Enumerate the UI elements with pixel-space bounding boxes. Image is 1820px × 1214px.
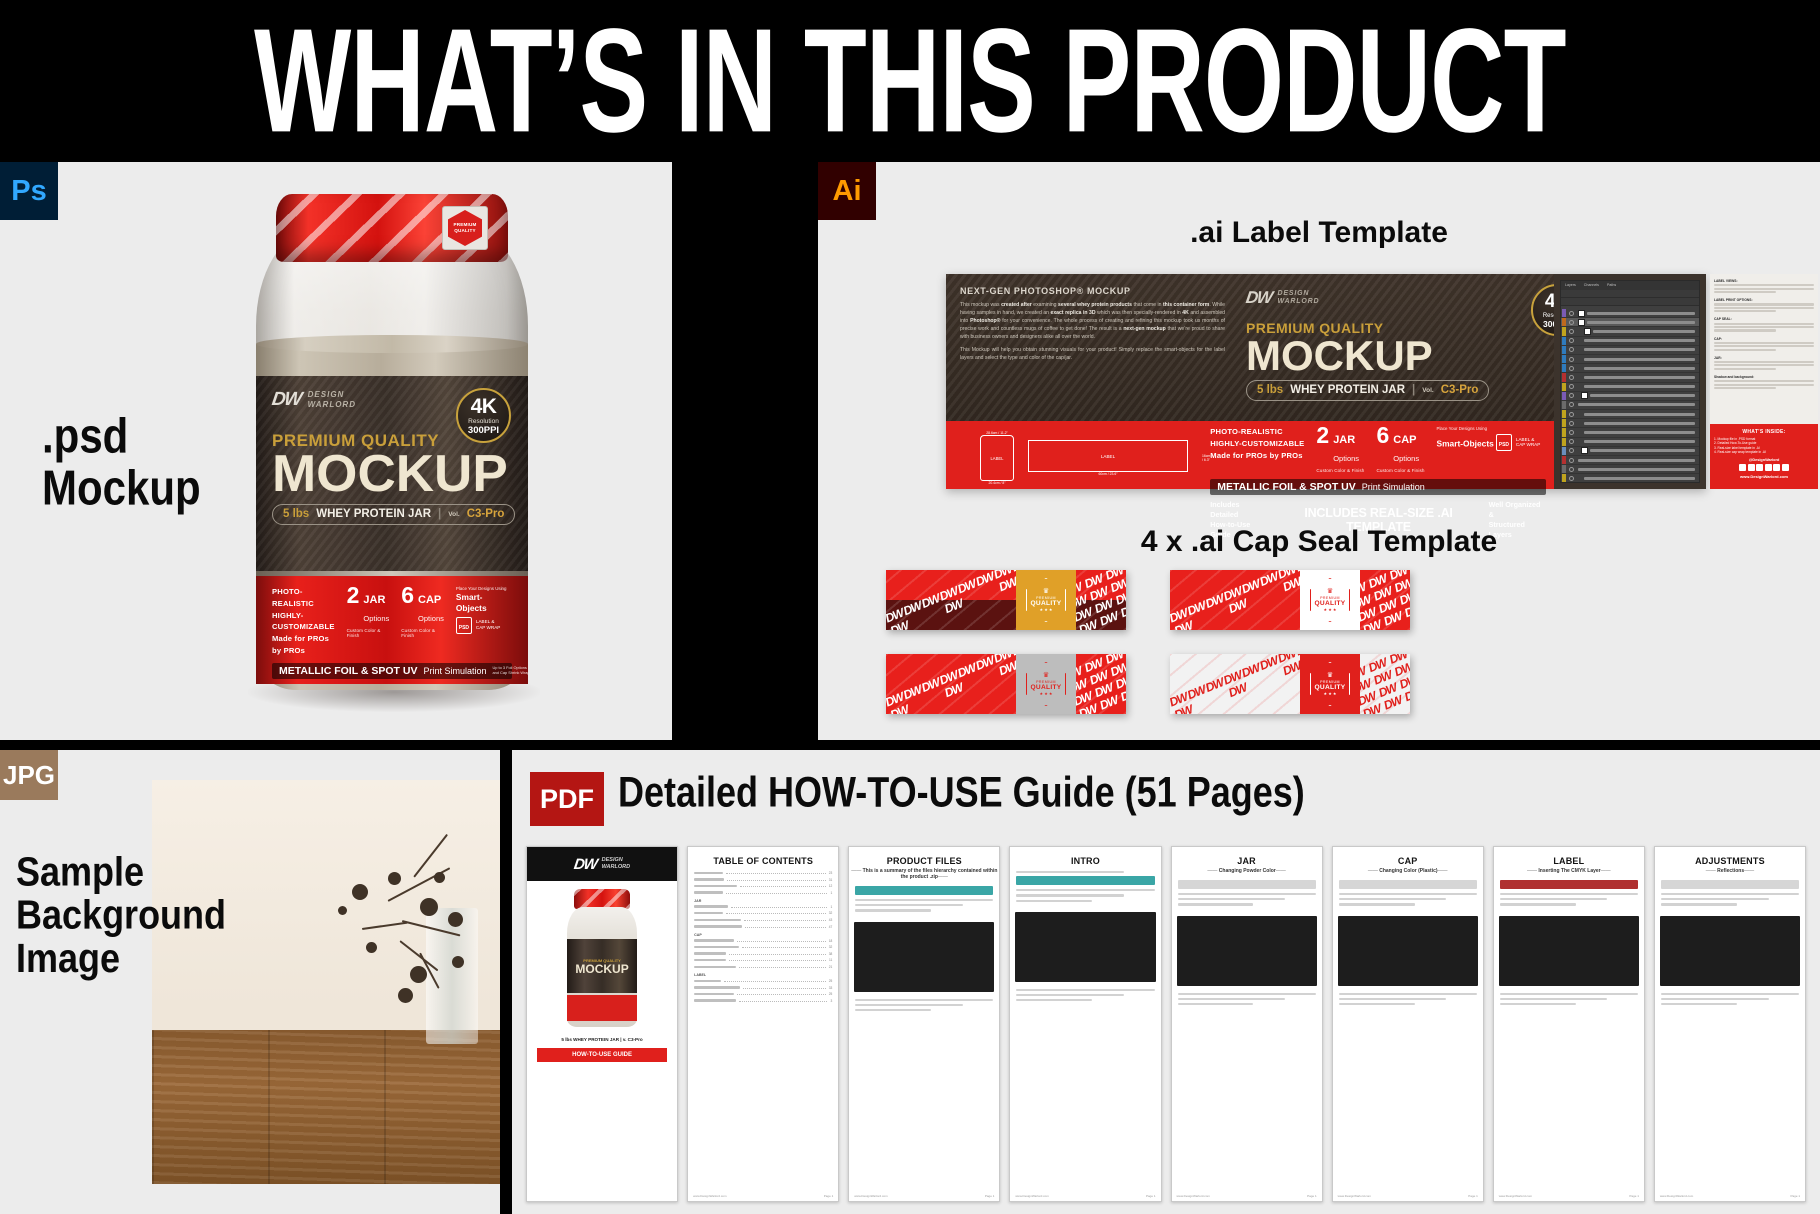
layer-color-swatch: [1562, 474, 1566, 482]
badge-ppi-value: 300PPI: [468, 426, 499, 436]
layer-visibility-icon[interactable]: [1569, 357, 1574, 362]
pdf-page-label[interactable]: LABELInserting The CMYK Layerwww.DesignW…: [1493, 846, 1645, 1202]
jar-options-note: Custom Color & Finish: [347, 628, 390, 638]
layer-row[interactable]: [1561, 392, 1699, 401]
page-header-title: LABEL: [1494, 847, 1644, 868]
ai-smart-title: Smart-Objects: [1437, 438, 1494, 448]
layer-row[interactable]: [1561, 465, 1699, 474]
layer-name: [1584, 477, 1695, 480]
page-callout-bar: [1500, 880, 1638, 889]
layer-row[interactable]: [1561, 318, 1699, 327]
ai-feature-customizable: HIGHLY-CUSTOMIZABLE: [1210, 438, 1304, 450]
ai-product-pill: 5 lbs WHEY PROTEIN JAR | Vol. C3-Pro: [1246, 380, 1489, 401]
jar-options-word: JAR: [363, 594, 385, 606]
layers-panel-opacity[interactable]: [1561, 298, 1699, 306]
ai-body-paragraph-1: This mockup was created after examining …: [960, 301, 1225, 341]
pdf-page-files[interactable]: PRODUCT FILESThis is a summary of the fi…: [848, 846, 1000, 1202]
page-callout-bar: [855, 886, 993, 895]
website-url: www.DesignWarlord.com: [1714, 474, 1814, 479]
ai-info-notes: LABEL VIEWS:LABEL PRINT OPTIONS:CAP SEAL…: [1710, 274, 1818, 424]
toc-row: 32: [694, 911, 832, 915]
layer-row[interactable]: [1561, 447, 1699, 456]
jar-options-block: 2 JAR Options Custom Color & Finish: [347, 586, 390, 638]
layer-name: [1584, 339, 1695, 342]
instagram-icon[interactable]: [1756, 464, 1763, 471]
jpg-caption: Sample Background Image: [16, 850, 226, 979]
info-note-block: JAR:: [1714, 356, 1814, 370]
cap-badge-quality: QUALITY: [454, 228, 476, 234]
cap-options-word: CAP: [418, 594, 441, 606]
psd-caption-line2: Mockup: [42, 462, 201, 514]
ai-artboard-dark-area: NEXT-GEN PHOTOSHOP® MOCKUP This mockup w…: [946, 274, 1554, 489]
page-footer-url: www.DesignWarlord.com: [693, 1194, 726, 1198]
layer-row[interactable]: [1561, 474, 1699, 482]
ai-smart-objects-block: Place Your Designs Using Smart-Objects P…: [1437, 426, 1541, 451]
layer-visibility-icon[interactable]: [1569, 320, 1574, 325]
jpg-caption-line2: Background: [16, 893, 226, 936]
layer-name: [1584, 422, 1695, 425]
layer-row[interactable]: [1561, 410, 1699, 419]
ai-dw-monogram: DW: [1245, 288, 1273, 308]
toc-group: JAR: [694, 899, 832, 903]
info-note-block: LABEL VIEWS:: [1714, 279, 1814, 293]
ai-metallic-foil-bar: METALLIC FOIL & SPOT UV Print Simulation: [1210, 479, 1546, 495]
ai-label-artwork: DW DESIGN WARLORD PREMIUM QUALITY MOCKUP…: [1246, 288, 1511, 401]
whats-inside-item: 4. Real-size cap wrap template in .AI: [1714, 450, 1814, 455]
seal-badge-segment: ♛PREMIUMQUALITY★ ★ ★: [1016, 570, 1076, 630]
pdf-badge-icon: PDF: [530, 772, 604, 826]
jar-options-count: 2: [347, 586, 360, 606]
ai-jar-options-word: JAR: [1333, 434, 1355, 446]
seal-badge-segment: ♛PREMIUMQUALITY★ ★ ★: [1016, 654, 1076, 714]
layer-color-swatch: [1562, 438, 1566, 446]
page-footer-num: Page 1: [1629, 1194, 1639, 1198]
whats-inside-box: WHAT’S INSIDE: 1. Mockup file in .PSD fo…: [1710, 424, 1818, 489]
toc-row: 38: [694, 952, 832, 956]
feature-text-column: PHOTO-REALISTIC HIGHLY-CUSTOMIZABLE Made…: [272, 586, 335, 657]
illustrator-badge-icon: Ai: [818, 162, 876, 220]
seed-pod: [366, 942, 377, 953]
layer-name: [1578, 403, 1695, 406]
page-callout-bar: [1661, 880, 1799, 889]
ai-cap-options-sub: Options: [1393, 454, 1419, 463]
crown-icon: ♛: [1043, 588, 1049, 596]
dribbble-icon[interactable]: [1782, 464, 1789, 471]
info-note-title: JAR:: [1714, 356, 1814, 360]
layer-color-swatch: [1562, 392, 1566, 400]
layer-color-swatch: [1562, 465, 1566, 473]
layer-color-swatch: [1562, 318, 1566, 326]
layer-visibility-icon[interactable]: [1569, 402, 1574, 407]
info-note-block: CAP SEAL:: [1714, 317, 1814, 331]
page-footer-num: Page 1: [824, 1194, 834, 1198]
pdf-guide-title: Detailed HOW-TO-USE Guide (51 Pages): [618, 770, 1305, 815]
cover-jar-label: PREMIUM QUALITYMOCKUP: [567, 939, 637, 993]
ai-jar-options-note: Custom Color & Finish: [1316, 468, 1364, 473]
ai-smart-cap2: CAP WRAP: [1516, 442, 1540, 447]
dim-length-value: 60cm / 23.6": [1028, 472, 1188, 476]
page-footer-num: Page 1: [1146, 1194, 1156, 1198]
seal-pattern-segment: DWDWDWDWDWDWDWDWDWDWDWDW: [886, 654, 1016, 714]
cap-options-note: Custom Color & Finish: [401, 628, 444, 638]
layer-visibility-icon[interactable]: [1569, 448, 1574, 453]
seal-pattern-segment: DWDWDWDWDWDWDWDWDWDWDWDW: [1076, 654, 1126, 714]
layer-visibility-icon[interactable]: [1569, 366, 1574, 371]
feature-customizable: HIGHLY-CUSTOMIZABLE: [272, 610, 335, 634]
seal-red-dark-gold: DWDWDWDWDWDWDWDWDWDWDWDW♛PREMIUMQUALITY★…: [886, 570, 1126, 630]
layer-visibility-icon[interactable]: [1569, 375, 1574, 380]
page-footer-num: Page 1: [985, 1194, 995, 1198]
pill-variant: C3-Pro: [467, 508, 505, 520]
ai-label-artboard: NEXT-GEN PHOTOSHOP® MOCKUP This mockup w…: [946, 274, 1706, 489]
page-footer-url: www.DesignWarlord.com: [1177, 1194, 1210, 1198]
layer-row[interactable]: [1561, 401, 1699, 410]
cover-subtitle: 5 lbs WHEY PROTEIN JAR | v. C3-Pro: [527, 1037, 677, 1042]
ai-layers-line1: Well Organized &: [1489, 500, 1541, 519]
page-header-title: PRODUCT FILES: [849, 847, 999, 868]
toc-row: 33: [694, 986, 832, 990]
sample-background-photo: [152, 780, 500, 1184]
premium-quality-seal-badge: ♛PREMIUMQUALITY★ ★ ★: [1310, 662, 1350, 706]
toc-row: 23: [694, 871, 832, 875]
ai-metallic-sub: Print Simulation: [1362, 482, 1425, 492]
ai-feature-block: PHOTO-REALISTIC HIGHLY-CUSTOMIZABLE Made…: [1210, 421, 1554, 489]
smart-cap-line2: CAP WRAP: [476, 625, 500, 630]
jar-cap-shrink-wrap: PREMIUM QUALITY: [276, 194, 508, 262]
info-note-block: LABEL PRINT OPTIONS:: [1714, 298, 1814, 312]
layer-name: [1584, 367, 1695, 370]
layer-name: [1578, 459, 1695, 462]
toc-row: 25: [694, 979, 832, 983]
layer-visibility-icon[interactable]: [1569, 439, 1574, 444]
feature-made-for-pros: Made for PROs by PROs: [272, 633, 335, 657]
seal-pattern-segment: DWDWDWDWDWDWDWDWDWDWDWDW: [1360, 654, 1410, 714]
pill-vol-label: Vol.: [448, 511, 459, 518]
layer-thumbnail: [1578, 319, 1585, 326]
ai-mockup-word: MOCKUP: [1246, 336, 1511, 376]
twitter-icon[interactable]: [1748, 464, 1755, 471]
toc-row: 12: [694, 884, 832, 888]
facebook-icon[interactable]: [1739, 464, 1746, 471]
page-screenshot: [1499, 916, 1639, 986]
layers-panel-tabs[interactable]: LayersChannelsPaths: [1561, 281, 1699, 290]
metallic-note-line2: and Cap Shrink Wrap: [492, 670, 528, 675]
seal-badge-segment: ♛PREMIUMQUALITY★ ★ ★: [1300, 654, 1360, 714]
jpg-badge-icon: JPG: [0, 750, 58, 800]
seal-pattern-segment: DWDWDWDWDWDWDWDWDWDWDWDW: [1170, 654, 1300, 714]
whats-inside-list: 1. Mockup file in .PSD format2. Detailed…: [1714, 437, 1814, 456]
page-header: WHAT’S IN THIS PRODUCT: [0, 0, 1820, 160]
dim-jar-label: LABEL: [990, 456, 1003, 461]
toc-row: 1: [694, 905, 832, 909]
ai-template-panel: Ai .ai Label Template 4 x .ai Cap Seal T…: [818, 162, 1820, 740]
page-header-sub: Reflections: [1655, 868, 1805, 877]
premium-quality-seal-badge: ♛PREMIUMQUALITY★ ★ ★: [1026, 578, 1066, 622]
page-footer-num: Page 1: [1307, 1194, 1317, 1198]
seed-pod: [352, 884, 368, 900]
ai-pill-product: WHEY PROTEIN JAR: [1290, 384, 1405, 396]
seal-pattern-segment: DWDWDWDWDWDWDWDWDWDWDWDW: [1170, 570, 1300, 630]
layer-row[interactable]: [1561, 438, 1699, 447]
layer-color-swatch: [1562, 401, 1566, 409]
cover-dw-monogram: DW: [573, 856, 598, 873]
photoshop-layers-panel[interactable]: LayersChannelsPaths: [1554, 274, 1706, 489]
ai-artboard-red-band: 28.6cm / 11.2" LABEL 20.4cm / 8" LABEL 6…: [946, 421, 1554, 489]
page-header-title: CAP: [1333, 847, 1483, 868]
layer-name: [1584, 358, 1695, 361]
layer-row[interactable]: [1561, 346, 1699, 355]
ai-pill-weight: 5 lbs: [1257, 384, 1283, 396]
cap-options-count: 6: [401, 586, 414, 606]
seal-stars: ★ ★ ★: [1040, 608, 1053, 613]
layer-name: [1584, 385, 1695, 388]
layer-visibility-icon[interactable]: [1569, 476, 1574, 481]
page-screenshot: [1177, 916, 1317, 986]
layers-panel-controls[interactable]: [1561, 290, 1699, 298]
dim-rect-label: LABEL: [1101, 454, 1115, 459]
info-note-title: LABEL VIEWS:: [1714, 279, 1814, 283]
smart-objects-title: Smart-Objects: [456, 592, 487, 613]
layer-row[interactable]: [1561, 327, 1699, 336]
label-mockup-word: MOCKUP: [272, 451, 517, 499]
page-footer-url: www.DesignWarlord.com: [1338, 1194, 1371, 1198]
jpg-caption-line1: Sample: [16, 850, 226, 893]
layer-row[interactable]: [1561, 419, 1699, 428]
toc-row: 47: [694, 925, 832, 929]
layer-thumbnail: [1578, 310, 1585, 317]
layer-color-swatch: [1562, 410, 1566, 418]
layer-visibility-icon[interactable]: [1569, 393, 1574, 398]
layer-name: [1584, 431, 1695, 434]
seal-stars: ★ ★ ★: [1324, 692, 1337, 697]
page-header-title: TABLE OF CONTENTS: [688, 847, 838, 868]
ai-jar-options-count: 2: [1316, 426, 1329, 446]
layer-color-swatch: [1562, 355, 1566, 363]
pdf-page-jar[interactable]: JARChanging Powder Colorwww.DesignWarlor…: [1171, 846, 1323, 1202]
social-icons[interactable]: [1714, 464, 1814, 471]
layer-visibility-icon[interactable]: [1569, 421, 1574, 426]
toc-row: 18: [694, 939, 832, 943]
dim-label-rect: LABEL: [1028, 440, 1188, 472]
layers-list[interactable]: [1561, 309, 1699, 482]
seed-pod: [410, 966, 427, 983]
layer-row[interactable]: [1561, 383, 1699, 392]
page-header-title: INTRO: [1010, 847, 1160, 868]
seal-stars: ★ ★ ★: [1040, 692, 1053, 697]
ai-jar-options-sub: Options: [1333, 454, 1359, 463]
seed-pod: [452, 956, 464, 968]
cap-options-block: 6 CAP Options Custom Color & Finish: [401, 586, 444, 638]
layer-color-swatch: [1562, 456, 1566, 464]
crown-icon: ♛: [1327, 672, 1333, 680]
metallic-foil-sub: Print Simulation: [423, 666, 486, 676]
page-callout-bar: [1016, 876, 1154, 885]
premium-quality-seal-badge: ♛PREMIUMQUALITY★ ★ ★: [1310, 578, 1350, 622]
page-footer-url: www.DesignWarlord.com: [1499, 1194, 1532, 1198]
pill-divider: |: [438, 508, 441, 520]
seed-pod: [388, 872, 401, 885]
layer-color-swatch: [1562, 327, 1566, 335]
jar-options-sub: Options: [363, 614, 389, 623]
info-note-block: CAP:: [1714, 337, 1814, 351]
ai-pill-vol: Vol.: [1422, 387, 1433, 394]
layer-color-swatch: [1562, 428, 1566, 436]
layer-row[interactable]: [1561, 456, 1699, 465]
crown-icon: ♛: [1043, 672, 1049, 680]
layer-color-swatch: [1562, 346, 1566, 354]
seed-pod: [448, 912, 463, 927]
info-note-title: LABEL PRINT OPTIONS:: [1714, 298, 1814, 302]
layer-color-swatch: [1562, 309, 1566, 317]
twig: [362, 922, 408, 930]
page-footer-num: Page 1: [1790, 1194, 1800, 1198]
page-header-title: ADJUSTMENTS: [1655, 847, 1805, 868]
jar-feature-band: PHOTO-REALISTIC HIGHLY-CUSTOMIZABLE Made…: [256, 576, 528, 684]
pill-product-name: WHEY PROTEIN JAR: [316, 508, 431, 520]
layer-visibility-icon[interactable]: [1569, 467, 1574, 472]
seed-pod: [338, 906, 347, 915]
layer-name: [1584, 413, 1695, 416]
layer-row[interactable]: [1561, 364, 1699, 373]
pdf-page-toc[interactable]: TABLE OF CONTENTS2331121JAR1324347CAP183…: [687, 846, 839, 1202]
layer-name: [1587, 312, 1695, 315]
behance-icon[interactable]: [1773, 464, 1780, 471]
ai-body-paragraph-2: This Mockup will help you obtain stunnin…: [960, 346, 1225, 362]
layer-color-swatch: [1562, 419, 1566, 427]
layer-color-swatch: [1562, 383, 1566, 391]
label-dimension-diagram: 28.6cm / 11.2" LABEL 20.4cm / 8" LABEL 6…: [946, 421, 1210, 489]
layer-visibility-icon[interactable]: [1569, 384, 1574, 389]
whats-inside-heading: WHAT’S INSIDE:: [1714, 429, 1814, 435]
protein-jar-render: DW DESIGN WARLORD 4K Resolution 300PPI P…: [238, 194, 548, 714]
seal-pattern-segment: DWDWDWDWDWDWDWDWDWDWDWDW: [886, 570, 1016, 630]
layer-row[interactable]: [1561, 428, 1699, 437]
psd-mockup-panel: Ps .psd Mockup DW DESIGN WARLORD 4K Reso…: [0, 162, 672, 740]
ai-psd-file-icon: PSD: [1496, 434, 1512, 451]
wooden-table-surface: [152, 1030, 500, 1184]
layer-visibility-icon[interactable]: [1569, 412, 1574, 417]
layer-visibility-icon[interactable]: [1569, 311, 1574, 316]
ai-cap-options-block: 6 CAP Options Custom Color & Finish: [1376, 426, 1424, 473]
layer-color-swatch: [1562, 373, 1566, 381]
ai-feature-photo-realistic: PHOTO-REALISTIC: [1210, 426, 1304, 438]
pdf-page-adjust[interactable]: ADJUSTMENTSReflectionswww.DesignWarlord.…: [1654, 846, 1806, 1202]
pdf-page-thumbnails: DWDESIGNWARLORDPREMIUM QUALITYMOCKUP5 lb…: [526, 846, 1806, 1202]
premium-quality-seal-badge: ♛PREMIUMQUALITY★ ★ ★: [1026, 662, 1066, 706]
dim-tall-value: 16cm / 6.3": [1202, 454, 1210, 462]
seal-pattern-segment: DWDWDWDWDWDWDWDWDWDWDWDW: [1076, 570, 1126, 630]
seal-badge-segment: ♛PREMIUMQUALITY★ ★ ★: [1300, 570, 1360, 630]
ai-brand-logo: DW DESIGN WARLORD: [1246, 288, 1511, 308]
seed-pod: [434, 872, 445, 883]
label-product-pill: 5 lbs WHEY PROTEIN JAR | Vol. C3-Pro: [272, 504, 515, 525]
cover-jar-image: PREMIUM QUALITYMOCKUP: [527, 881, 677, 1033]
page-footer-url: www.DesignWarlord.com: [1015, 1194, 1048, 1198]
ai-pill-variant: C3-Pro: [1441, 384, 1479, 396]
page-title: WHAT’S IN THIS PRODUCT: [254, 0, 1566, 165]
info-note-title: Shadow and background:: [1714, 375, 1814, 379]
seed-pod: [420, 898, 438, 916]
ai-cap-options-word: CAP: [1393, 434, 1416, 446]
seal-red-silver: DWDWDWDWDWDWDWDWDWDWDWDW♛PREMIUMQUALITY★…: [886, 654, 1126, 714]
cover-cta-button[interactable]: HOW-TO-USE GUIDE: [537, 1048, 667, 1062]
layer-row[interactable]: [1561, 309, 1699, 318]
toc-row: 25: [694, 992, 832, 996]
pdf-page-intro[interactable]: INTROwww.DesignWarlord.comPage 1: [1009, 846, 1161, 1202]
dw-word-design: DESIGN: [308, 390, 345, 399]
info-note-title: CAP SEAL:: [1714, 317, 1814, 321]
cover-wordmark: DESIGNWARLORD: [602, 857, 630, 870]
ai-feature-made-for-pros: Made for PROs by PROs: [1210, 450, 1304, 462]
layer-name: [1584, 440, 1695, 443]
cap-premium-quality-badge: PREMIUM QUALITY: [448, 210, 482, 246]
layer-name: [1584, 348, 1695, 351]
ai-label-template-title: .ai Label Template: [818, 217, 1820, 249]
dw-wordmark: DESIGN WARLORD: [308, 390, 356, 409]
layer-visibility-icon[interactable]: [1569, 329, 1574, 334]
layer-visibility-icon[interactable]: [1569, 430, 1574, 435]
dim-jar-outline: LABEL: [980, 435, 1014, 481]
pinterest-icon[interactable]: [1765, 464, 1772, 471]
layer-thumbnail: [1581, 447, 1588, 454]
layer-visibility-icon[interactable]: [1569, 458, 1574, 463]
layer-color-swatch: [1562, 364, 1566, 372]
layer-name: [1578, 468, 1695, 471]
smart-cap-line1: LABEL &: [476, 619, 494, 624]
layer-row[interactable]: [1561, 373, 1699, 382]
layer-row[interactable]: [1561, 355, 1699, 364]
social-handle: @DesignWarlord: [1714, 458, 1814, 462]
ai-guide-line1: Includes Detailed: [1210, 500, 1239, 519]
pdf-page-cover[interactable]: DWDESIGNWARLORDPREMIUM QUALITYMOCKUP5 lb…: [526, 846, 678, 1202]
ai-cap-options-count: 6: [1376, 426, 1389, 446]
smart-objects-pre: Place Your Designs Using: [456, 586, 512, 592]
layer-visibility-icon[interactable]: [1569, 347, 1574, 352]
ai-metallic-title: METALLIC FOIL & SPOT UV: [1217, 481, 1355, 493]
page-screenshot: [1015, 912, 1155, 982]
page-footer-url: www.DesignWarlord.com: [1660, 1194, 1693, 1198]
psd-caption-line1: .psd: [42, 410, 201, 462]
feature-row: PHOTO-REALISTIC HIGHLY-CUSTOMIZABLE Made…: [272, 586, 512, 657]
dw-word-warlord: WARLORD: [308, 400, 356, 409]
ai-jar-options-block: 2 JAR Options Custom Color & Finish: [1316, 426, 1364, 473]
jpg-caption-line3: Image: [16, 936, 226, 979]
layer-visibility-icon[interactable]: [1569, 338, 1574, 343]
cover-brand-bar: DWDESIGNWARLORD: [527, 847, 677, 881]
page-footer-num: Page 1: [1468, 1194, 1478, 1198]
layer-row[interactable]: [1561, 337, 1699, 346]
layer-color-swatch: [1562, 337, 1566, 345]
page-header-sub: Changing Color (Plastic): [1333, 868, 1483, 877]
page-screenshot: [854, 922, 994, 992]
photoshop-badge-icon: Ps: [0, 162, 58, 220]
pdf-guide-panel: PDF Detailed HOW-TO-USE Guide (51 Pages)…: [512, 750, 1820, 1214]
page-header-title: JAR: [1172, 847, 1322, 868]
page-header-sub: Inserting The CMYK Layer: [1494, 868, 1644, 877]
layer-thumbnail: [1581, 392, 1588, 399]
toc-row: 1: [694, 891, 832, 895]
layer-color-swatch: [1562, 447, 1566, 455]
cap-seal-badge-area: PREMIUM QUALITY: [442, 206, 488, 250]
ai-cap-options-note: Custom Color & Finish: [1376, 468, 1424, 473]
pdf-page-cap[interactable]: CAPChanging Color (Plastic)www.DesignWar…: [1332, 846, 1484, 1202]
feature-photo-realistic: PHOTO-REALISTIC: [272, 586, 335, 610]
ai-info-sidebar: LABEL VIEWS:LABEL PRINT OPTIONS:CAP SEAL…: [1710, 274, 1818, 489]
page-callout-bar: [1178, 880, 1316, 889]
cap-options-sub: Options: [418, 614, 444, 623]
seal-white-red: DWDWDWDWDWDWDWDWDWDWDWDW♛PREMIUMQUALITY★…: [1170, 654, 1410, 714]
jar-label-artwork: DW DESIGN WARLORD 4K Resolution 300PPI P…: [256, 376, 528, 576]
